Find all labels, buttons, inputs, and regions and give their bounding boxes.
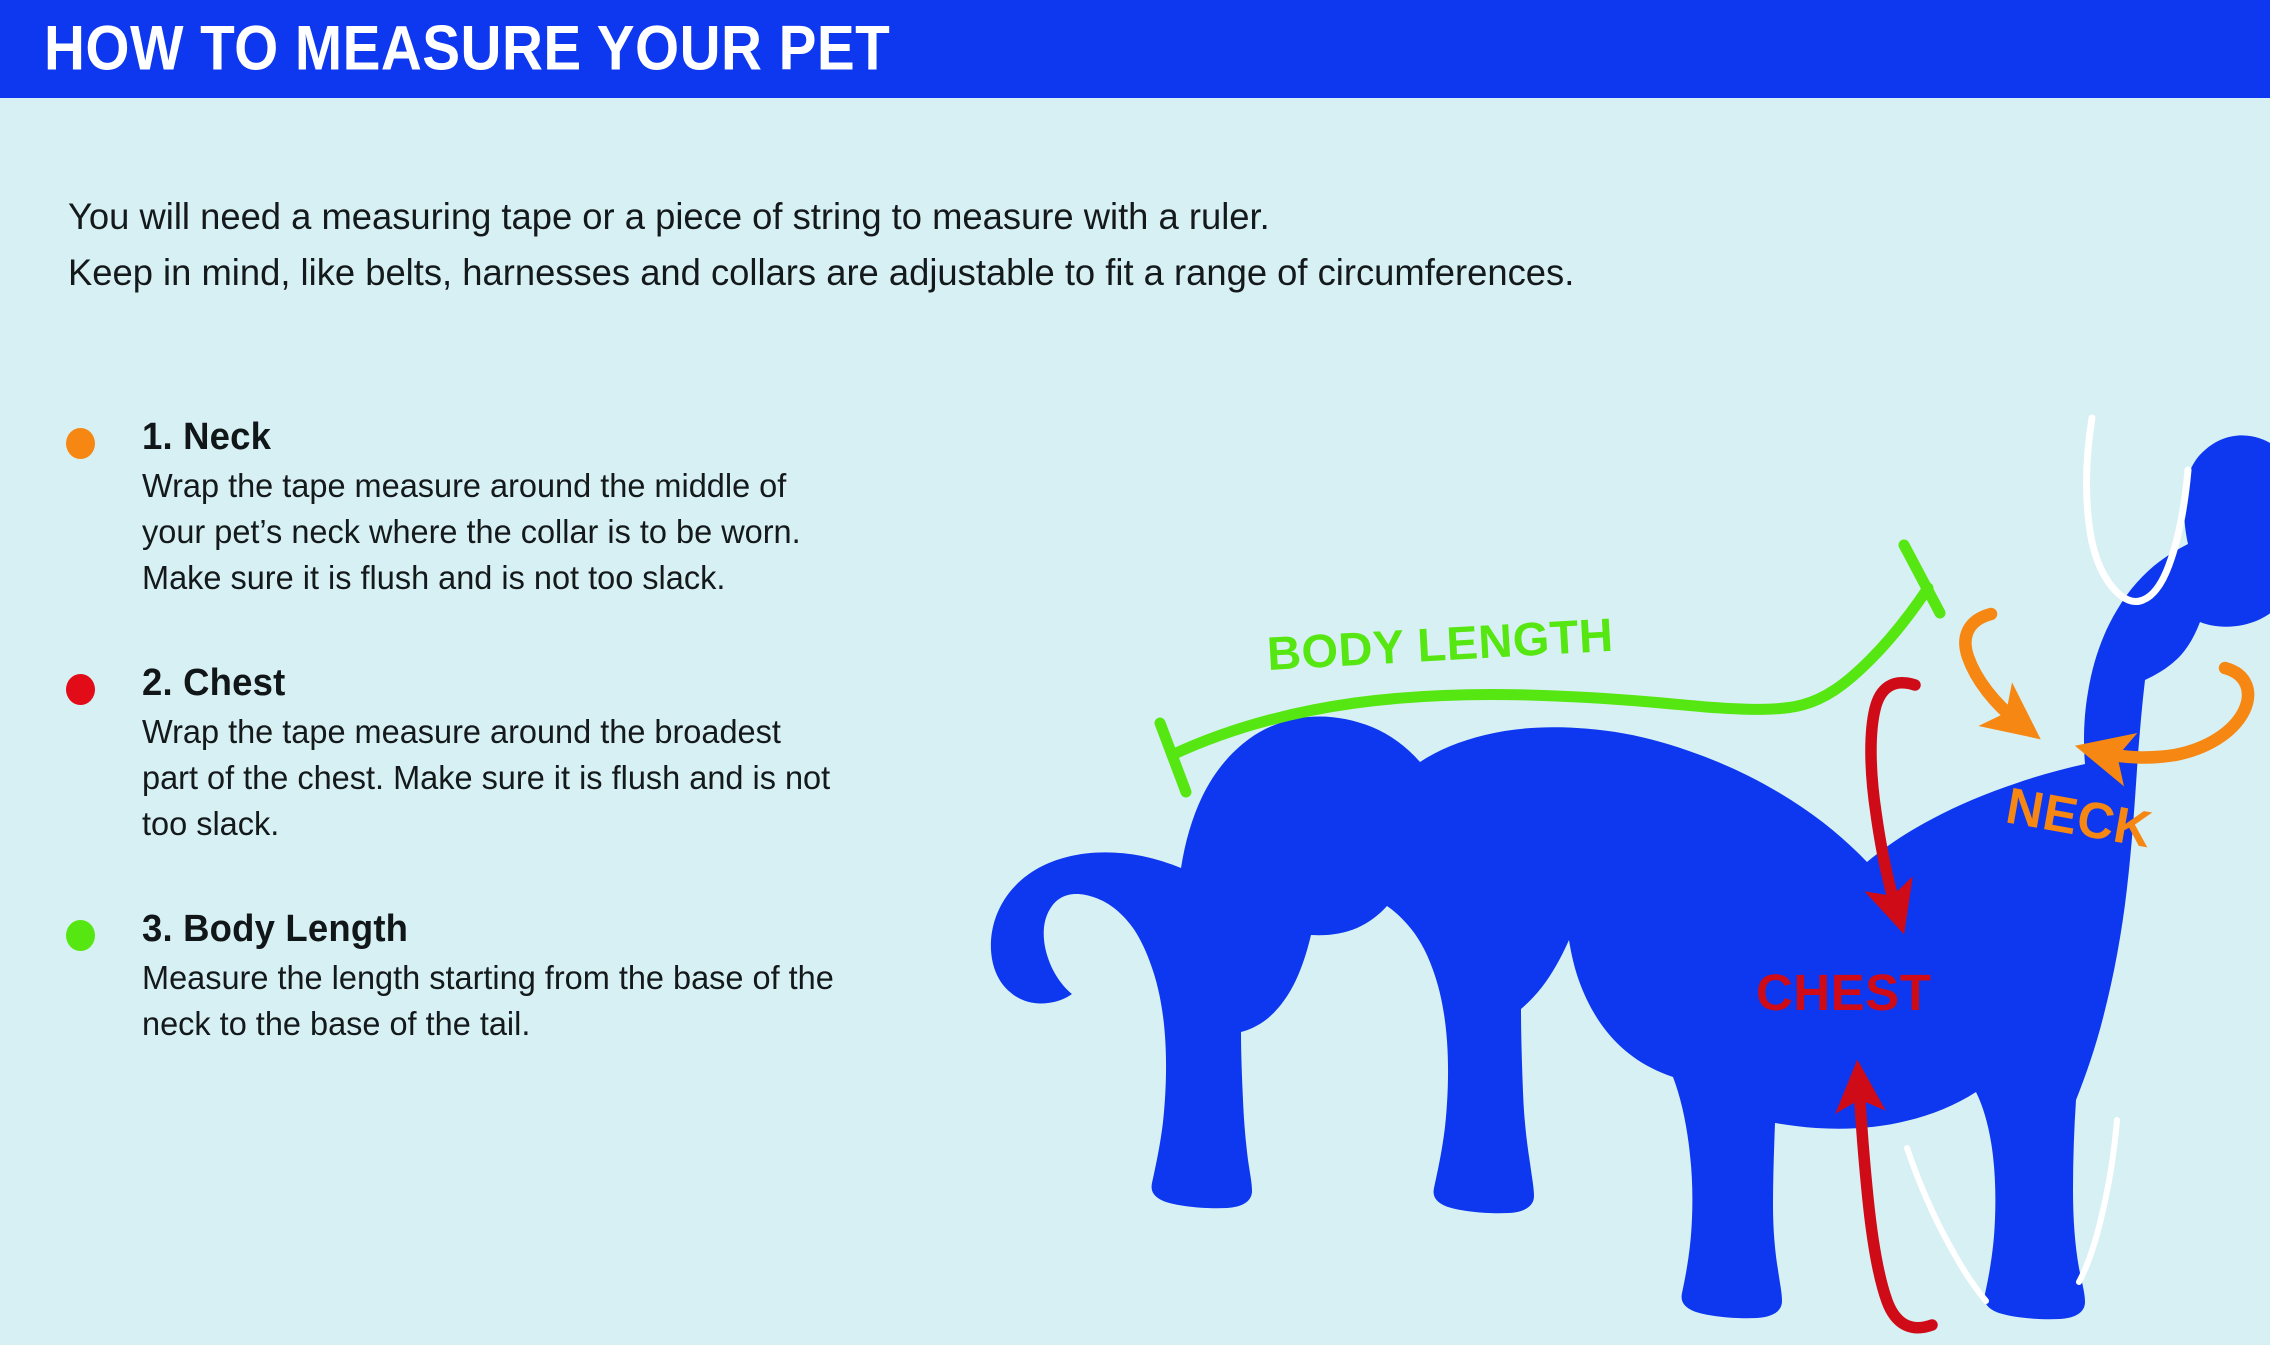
step-description-neck: Wrap the tape measure around the middle …: [142, 464, 976, 602]
step-item-chest: 2. Chest Wrap the tape measure around th…: [66, 660, 1066, 848]
step-description-body-length: Measure the length starting from the bas…: [142, 956, 976, 1048]
chest-measure: CHEST: [1756, 683, 1932, 1328]
step-desc-line: Measure the length starting from the bas…: [142, 956, 976, 1002]
body-length-label: BODY LENGTH: [1266, 608, 1615, 680]
bullet-icon-body-length: [66, 920, 95, 951]
body-length-end-cap-left: [1160, 723, 1186, 792]
intro-paragraph: You will need a measuring tape or a piec…: [68, 188, 1775, 300]
step-item-neck: 1. Neck Wrap the tape measure around the…: [66, 414, 1066, 602]
intro-line-2: Keep in mind, like belts, harnesses and …: [68, 244, 1775, 300]
step-desc-line: neck to the base of the tail.: [142, 1002, 976, 1048]
step-title-body-length: 3. Body Length: [142, 906, 1029, 952]
measurement-steps-list: 1. Neck Wrap the tape measure around the…: [66, 414, 1066, 1106]
intro-line-1: You will need a measuring tape or a piec…: [68, 188, 1775, 244]
page-title: HOW TO MEASURE YOUR PET: [44, 18, 890, 81]
neck-arrow-left: [1965, 614, 2017, 721]
dog-measurement-illustration: BODY LENGTH NECK CHEST: [990, 330, 2270, 1345]
step-desc-line: Wrap the tape measure around the broades…: [142, 710, 976, 756]
bullet-icon-neck: [66, 428, 95, 459]
chest-label: CHEST: [1756, 964, 1931, 1021]
step-desc-line: too slack.: [142, 802, 976, 848]
step-desc-line: your pet’s neck where the collar is to b…: [142, 510, 976, 556]
step-item-body-length: 3. Body Length Measure the length starti…: [66, 906, 1066, 1048]
dog-silhouette: [991, 418, 2270, 1319]
step-description-chest: Wrap the tape measure around the broades…: [142, 710, 976, 848]
bullet-icon-chest: [66, 674, 95, 705]
step-title-chest: 2. Chest: [142, 660, 1029, 706]
step-desc-line: part of the chest. Make sure it is flush…: [142, 756, 976, 802]
step-title-neck: 1. Neck: [142, 414, 1029, 460]
step-desc-line: Make sure it is flush and is not too sla…: [142, 556, 976, 602]
step-desc-line: Wrap the tape measure around the middle …: [142, 464, 976, 510]
header-bar: HOW TO MEASURE YOUR PET: [0, 0, 2270, 98]
